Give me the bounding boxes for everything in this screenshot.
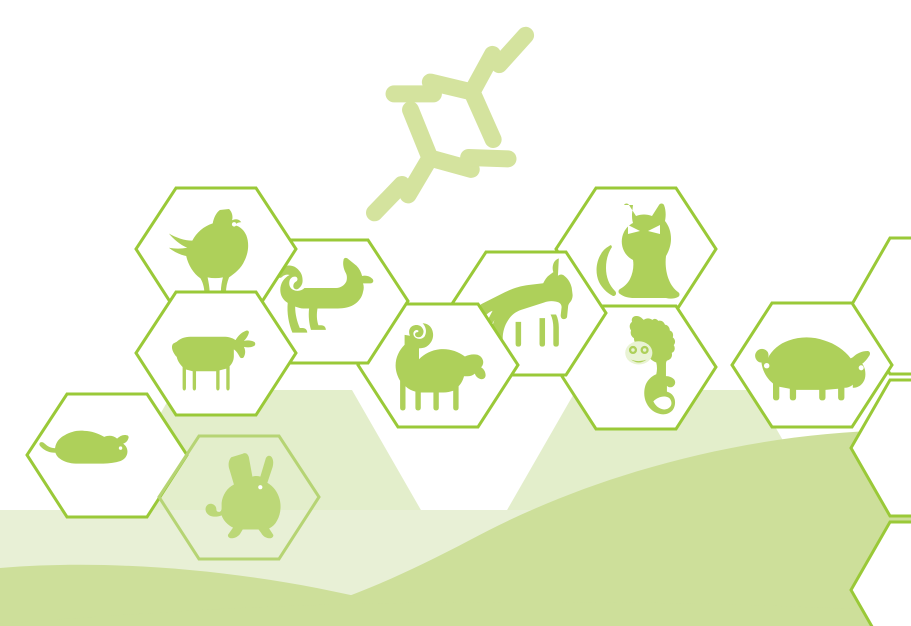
banner-illustration	[0, 0, 911, 626]
banner-canvas	[0, 0, 911, 626]
